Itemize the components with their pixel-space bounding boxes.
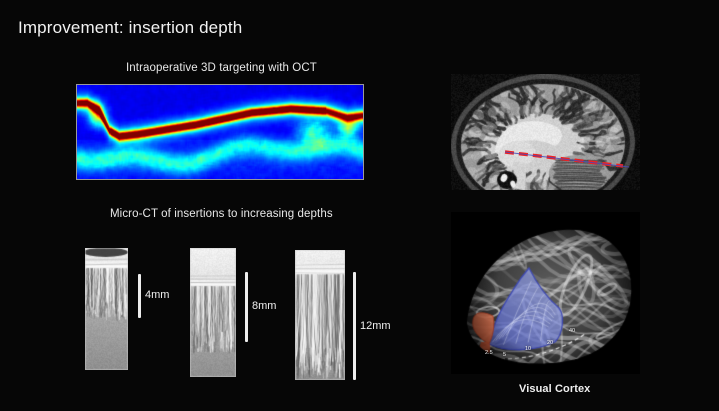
visual-cortex-image — [451, 212, 640, 374]
scale-bar-4mm — [138, 274, 141, 318]
visual-cortex-caption: Visual Cortex — [519, 383, 590, 395]
depth-label-4mm: 4mm — [145, 289, 169, 301]
mri-image — [451, 74, 640, 190]
depth-label-8mm: 8mm — [252, 300, 276, 312]
microct-sample-12mm — [295, 250, 345, 380]
depth-label-12mm: 12mm — [360, 320, 391, 332]
microct-image-8mm — [190, 248, 236, 377]
eccentricity-label-10: 10 — [525, 346, 531, 352]
mri-sagittal-panel — [451, 74, 640, 190]
oct-caption: Intraoperative 3D targeting with OCT — [126, 62, 317, 74]
microct-image-4mm — [85, 248, 128, 370]
eccentricity-label-2-5: 2.5 — [485, 350, 493, 356]
oct-heatmap-image — [77, 85, 363, 179]
scale-bar-8mm — [245, 272, 248, 342]
page-title: Improvement: insertion depth — [18, 18, 242, 38]
microct-caption: Micro-CT of insertions to increasing dep… — [110, 208, 333, 220]
oct-image-panel — [76, 84, 364, 180]
visual-cortex-panel: 2.55102040 — [451, 212, 640, 374]
slide-root: Improvement: insertion depth Intraoperat… — [0, 0, 719, 411]
eccentricity-label-5: 5 — [503, 352, 506, 358]
microct-image-12mm — [295, 250, 345, 380]
scale-bar-12mm — [353, 272, 356, 380]
microct-sample-8mm — [190, 248, 236, 377]
eccentricity-label-20: 20 — [547, 340, 553, 346]
microct-sample-4mm — [85, 248, 128, 370]
eccentricity-label-40: 40 — [569, 328, 575, 334]
